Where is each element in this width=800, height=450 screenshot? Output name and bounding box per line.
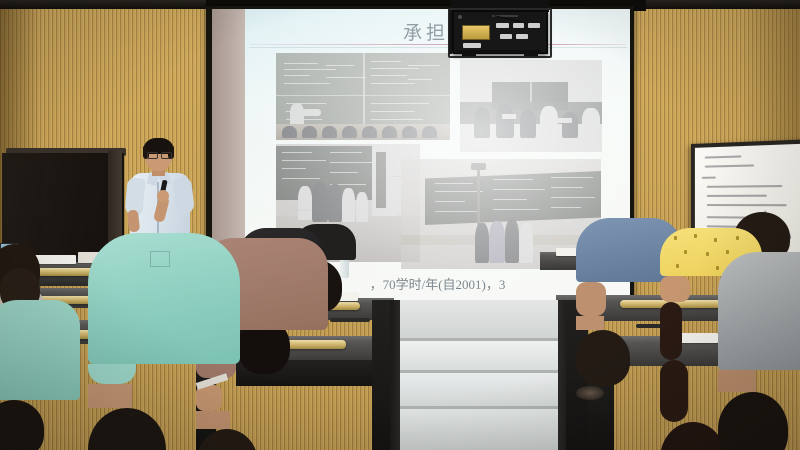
- presenter-hand: [157, 190, 169, 202]
- slide-title: 承担课: [245, 18, 630, 45]
- blue-polo-head: [576, 330, 630, 386]
- yellow-top-arm: [660, 276, 690, 302]
- blue-polo-arm: [576, 282, 606, 316]
- lecture-hall-photo: 承担课 ，70学时/年(自2001)，3: [0, 0, 800, 450]
- projector-display-panel: [462, 25, 490, 40]
- gray-shirt-torso: [718, 252, 800, 370]
- attendee-gray-shirt: [718, 252, 800, 450]
- attendee-mint-polo: [88, 233, 240, 450]
- yellow-top-hair-right: [660, 360, 688, 422]
- center-aisle-steps: [386, 300, 576, 450]
- glasses-lens-left: [147, 152, 158, 159]
- desk-cable-slot-center: [330, 318, 370, 322]
- attendee-left-foreground: [0, 300, 68, 450]
- mint-polo-torso: [88, 233, 240, 364]
- gray-shirt-head: [718, 392, 788, 450]
- glasses-lens-right: [161, 152, 172, 159]
- presenter-sleeve-right: [173, 177, 195, 215]
- mint-polo-collar: [88, 364, 136, 384]
- mint-polo-head: [88, 408, 166, 450]
- presenter-arm-lowered: [127, 209, 140, 232]
- aisle-end-panel-left: [372, 300, 390, 450]
- projector-foot-right: [524, 53, 538, 56]
- slide-title-rule-secondary: [249, 47, 627, 48]
- projector-foot-left: [462, 53, 476, 56]
- yellow-top-hair-left: [660, 302, 682, 360]
